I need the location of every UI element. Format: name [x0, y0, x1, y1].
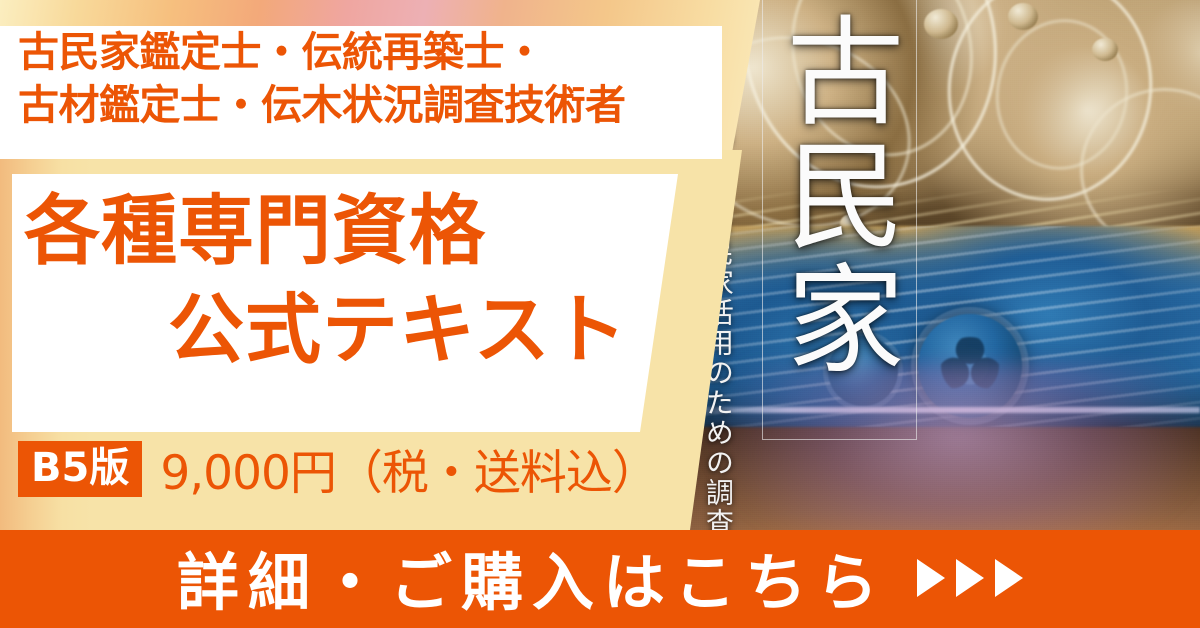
cta-arrows	[917, 559, 1023, 597]
book-cover-title: 古民家	[775, 10, 903, 382]
cta-bar[interactable]: 詳細・ご購入はこちら	[0, 530, 1200, 628]
promo-banner: 伝統構法、古民家活用のための調査と再生の 古民家 古民家鑑定士・伝統再築士・ 古…	[0, 0, 1200, 628]
headline-text: 各種専門資格 公式テキスト	[16, 182, 696, 380]
certifications-text: 古民家鑑定士・伝統再築士・ 古材鑑定士・伝木状況調査技術者	[18, 26, 718, 133]
cta-label: 詳細・ご購入はこちら	[177, 532, 887, 622]
certifications-line-2: 古材鑑定士・伝木状況調査技術者	[18, 79, 718, 132]
chevron-right-icon	[917, 559, 945, 597]
certifications-line-1: 古民家鑑定士・伝統再築士・	[18, 26, 718, 79]
chevron-right-icon	[995, 559, 1023, 597]
price-row: B5版 9,000円（税・送料込）	[18, 434, 658, 503]
format-badge: B5版	[18, 441, 142, 497]
price-amount: 9,000円（税・送料込）	[160, 434, 658, 503]
headline-line-1: 各種専門資格	[16, 182, 696, 281]
headline-line-2: 公式テキスト	[16, 281, 696, 380]
chevron-right-icon	[956, 559, 984, 597]
